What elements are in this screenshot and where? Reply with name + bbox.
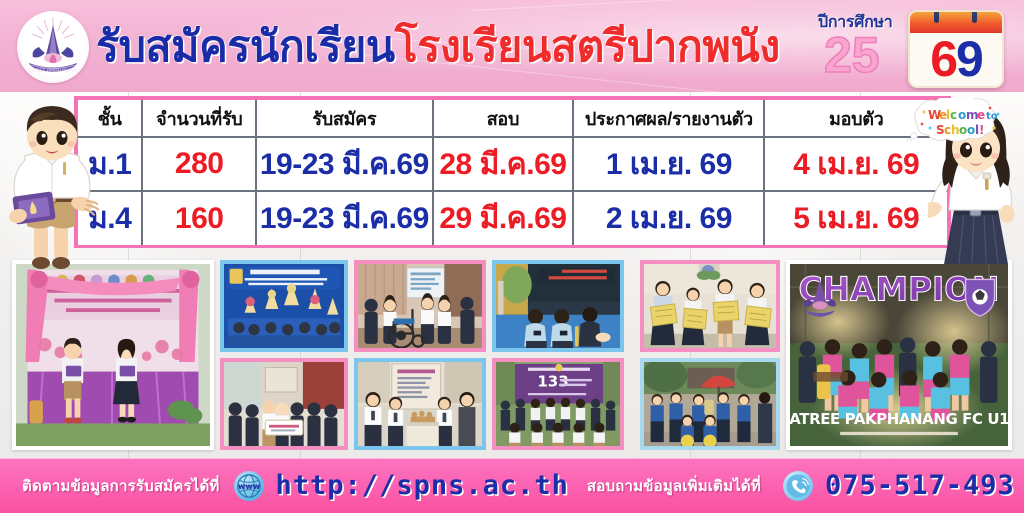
football-champion-banner-photo: CHAMPION (786, 260, 1012, 450)
donation-handover-photo (220, 358, 348, 450)
academic-year-digit-9: 9 (956, 34, 982, 84)
column-header-results: ประกาศผล/รายงานตัว (573, 100, 764, 137)
photo-gallery: 133 (0, 252, 1024, 460)
svg-text:o: o (959, 123, 967, 137)
poster-footer: ติดตามข้อมูลการรับสมัครได้ที่ www http:/… (0, 458, 1024, 513)
table-row: ม.4 160 19-23 มี.ค.69 29 มี.ค.69 2 เม.ย.… (78, 191, 947, 245)
cell-quota: 280 (142, 137, 256, 191)
column-header-quota: จำนวนที่รับ (142, 100, 256, 137)
champion-team-text: SATREE PAKPHANANG FC U15 (790, 410, 1008, 428)
footer-top-rule (0, 458, 1024, 459)
page-title: รับสมัครนักเรียนโรงเรียนสตรีปากพนัง (96, 14, 816, 80)
cell-enroll: 5 เม.ย. 69 (764, 191, 947, 245)
poster-header: SATREE PAKPHANANG รับสมัครนักเรียนโรงเรี… (0, 0, 1024, 92)
school-emblem-logo: SATREE PAKPHANANG (17, 11, 89, 83)
calendar-year-digits: 69 (910, 29, 1002, 88)
phone-number-link[interactable]: 075-517-493 (825, 470, 1015, 501)
science-project-display-photo (354, 358, 486, 450)
cell-quota: 160 (142, 191, 256, 245)
academic-year-block: ปีการศึกษา 25 69 (812, 4, 1012, 90)
boy-student-mascot (0, 100, 104, 272)
svg-text:www: www (238, 481, 261, 490)
svg-text:o: o (967, 123, 975, 137)
ceremony-procession-photo (640, 358, 780, 450)
svg-text:c: c (950, 108, 957, 122)
svg-text:to: to (986, 111, 998, 122)
follow-label: ติดตามข้อมูลการรับสมัครได้ที่ (22, 474, 220, 498)
thai-dance-performance-photo (220, 260, 348, 352)
cell-exam: 29 มี.ค.69 (433, 191, 574, 245)
admission-schedule-table-frame: ชั้น จำนวนที่รับ รับสมัคร สอบ ประกาศผล/ร… (74, 96, 951, 248)
website-link[interactable]: http://spns.ac.th (276, 470, 569, 501)
svg-text:e: e (977, 108, 985, 122)
wheelchair-project-photo (354, 260, 486, 352)
contact-label: สอบถามข้อมูลเพิ่มเติมได้ที่ (587, 474, 761, 498)
cell-results: 1 เม.ย. 69 (573, 137, 764, 191)
cell-apply: 19-23 มี.ค.69 (256, 137, 432, 191)
admission-poster: SATREE PAKPHANANG รับสมัครนักเรียนโรงเรี… (0, 0, 1024, 513)
svg-text:133: 133 (537, 372, 568, 390)
column-header-exam: สอบ (433, 100, 574, 137)
page-title-part-red: โรงเรียนสตรีปากพนัง (395, 26, 780, 69)
welcome-to-school-bubble: We lc om e to Sc ho ol ! (906, 98, 1010, 142)
svg-text:SATREE PAKPHANANG: SATREE PAKPHANANG (29, 68, 78, 74)
school-anniversary-group-photo: 133 (492, 358, 624, 450)
calendar-ring-icon (972, 10, 977, 23)
certificate-holders-photo (640, 260, 780, 352)
phone-icon (783, 471, 813, 501)
cell-results: 2 เม.ย. 69 (573, 191, 764, 245)
admission-schedule-table: ชั้น จำนวนที่รับ รับสมัคร สอบ ประกาศผล/ร… (78, 100, 947, 245)
calendar-icon: 69 (908, 10, 1004, 88)
column-header-apply: รับสมัคร (256, 100, 432, 137)
calendar-ring-icon (934, 10, 939, 23)
auditorium-activity-photo (492, 260, 624, 352)
svg-text:o: o (958, 108, 966, 122)
cell-enroll: 4 เม.ย. 69 (764, 137, 947, 191)
globe-icon: www (234, 471, 264, 501)
table-row: ม.1 280 19-23 มี.ค.69 28 มี.ค.69 1 เม.ย.… (78, 137, 947, 191)
decor-wire (470, 0, 770, 11)
cell-exam: 28 มี.ค.69 (433, 137, 574, 191)
academic-year-prefix: 25 (824, 30, 880, 80)
page-title-part-blue: รับสมัครนักเรียน (96, 26, 395, 69)
svg-text:!: ! (979, 123, 984, 137)
award-ceremony-stage-photo (12, 260, 214, 450)
academic-year-digit-6: 6 (930, 34, 956, 84)
cell-apply: 19-23 มี.ค.69 (256, 191, 432, 245)
table-header-row: ชั้น จำนวนที่รับ รับสมัคร สอบ ประกาศผล/ร… (78, 100, 947, 137)
